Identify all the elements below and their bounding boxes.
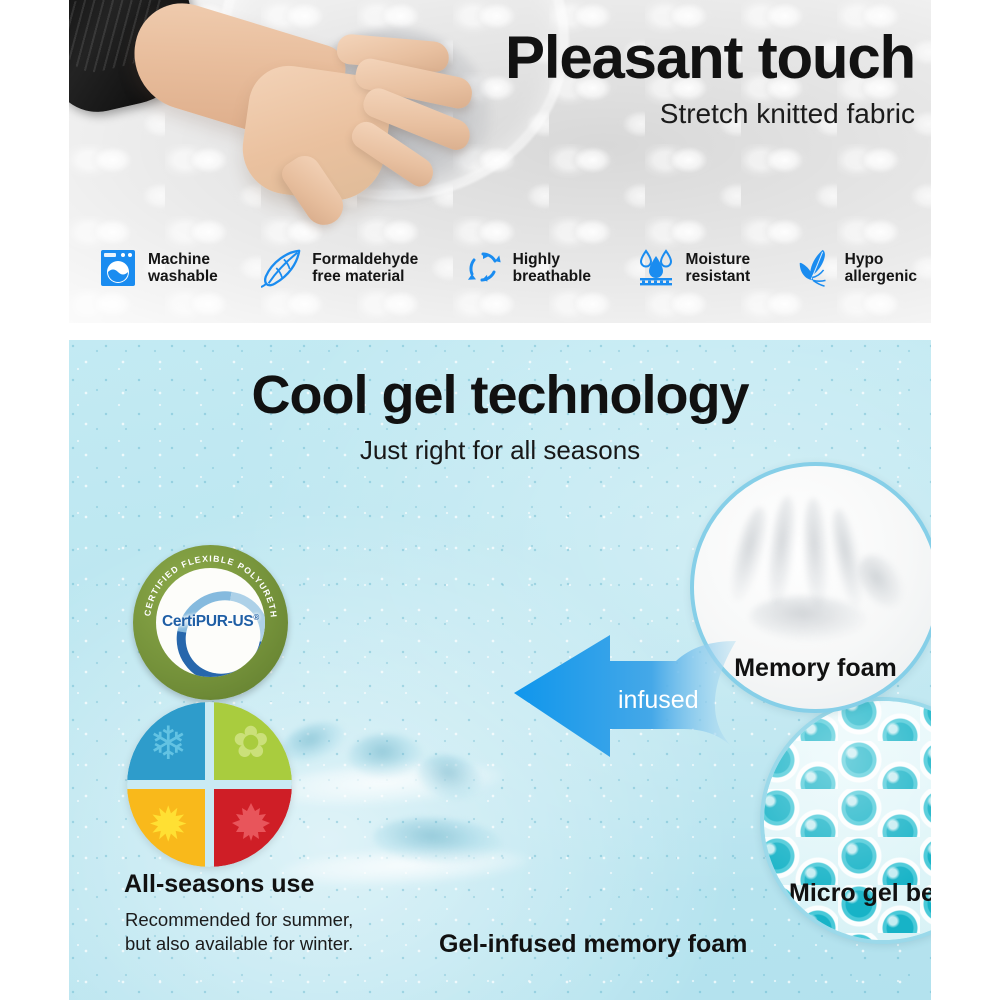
feature-label: Highly breathable	[513, 251, 591, 286]
micro-gel-beads-label: Micro gel beads	[764, 881, 931, 906]
badge-inner-disc: CertiPUR-US®	[156, 568, 265, 677]
gel-infused-memory-foam-label: Gel-infused memory foam	[439, 932, 747, 957]
feature-moisture-resistant: Moisture resistant	[635, 246, 751, 290]
flower-icon: ✿	[232, 721, 269, 765]
certipur-us-badge: CONTAINS CERTIFIED FLEXIBLE POLYURETHANE…	[133, 545, 288, 700]
feather-icon	[261, 246, 303, 290]
memory-foam-handprint	[730, 500, 898, 640]
infused-arrow: infused	[506, 633, 736, 768]
all-seasons-use-description: Recommended for summer, but also availab…	[125, 908, 353, 957]
badge-wordmark-text: CertiPUR-US	[162, 614, 253, 631]
page-title: Pleasant touch	[505, 28, 915, 88]
water-droplets-icon	[635, 246, 677, 290]
page-subtitle: Stretch knitted fabric	[660, 100, 915, 128]
feature-formaldehyde-free: Formaldehyde free material	[261, 246, 418, 290]
feature-machine-washable: Machine washable	[97, 246, 218, 290]
section-subtitle: Just right for all seasons	[69, 437, 931, 463]
maple-leaf-icon	[230, 801, 272, 851]
section-title: Cool gel technology	[69, 368, 931, 422]
recycle-breathable-icon	[462, 246, 504, 290]
sun-icon: ✹	[148, 802, 188, 850]
badge-wordmark: CertiPUR-US®	[162, 613, 259, 631]
feature-label: Formaldehyde free material	[312, 251, 418, 286]
badge-registered-mark: ®	[253, 613, 259, 622]
feature-hypo-allergenic: Hypo allergenic	[794, 246, 917, 290]
micro-gel-beads-circle: Micro gel beads	[760, 697, 931, 944]
washing-machine-icon	[97, 246, 139, 290]
snowflake-icon: ❄	[149, 720, 188, 766]
pleasant-touch-panel: Pleasant touch Stretch knitted fabric Ma…	[69, 0, 931, 323]
wheel-divider-horizontal	[127, 780, 292, 789]
foam-finger-impression	[801, 497, 831, 610]
foam-finger-impression	[764, 495, 800, 609]
feature-icon-strip: Machine washable Formaldehyde free mater…	[97, 246, 917, 290]
infographic-page: Pleasant touch Stretch knitted fabric Ma…	[0, 0, 1000, 1000]
foam-finger-impression	[725, 504, 773, 603]
imprint-dip	[349, 734, 423, 778]
infused-label: infused	[618, 688, 699, 713]
feature-label: Machine washable	[148, 251, 218, 286]
all-seasons-wheel: ❄ ✿ ✹	[127, 702, 292, 867]
all-seasons-use-title: All-seasons use	[124, 872, 314, 897]
cool-gel-technology-panel: Cool gel technology Just right for all s…	[69, 340, 931, 1000]
butterfly-leaves-icon	[794, 246, 836, 290]
hand-pressing-fabric-photo	[69, 0, 489, 250]
feature-label: Hypo allergenic	[845, 251, 917, 286]
feature-highly-breathable: Highly breathable	[462, 246, 591, 290]
feature-label: Moisture resistant	[686, 251, 751, 286]
